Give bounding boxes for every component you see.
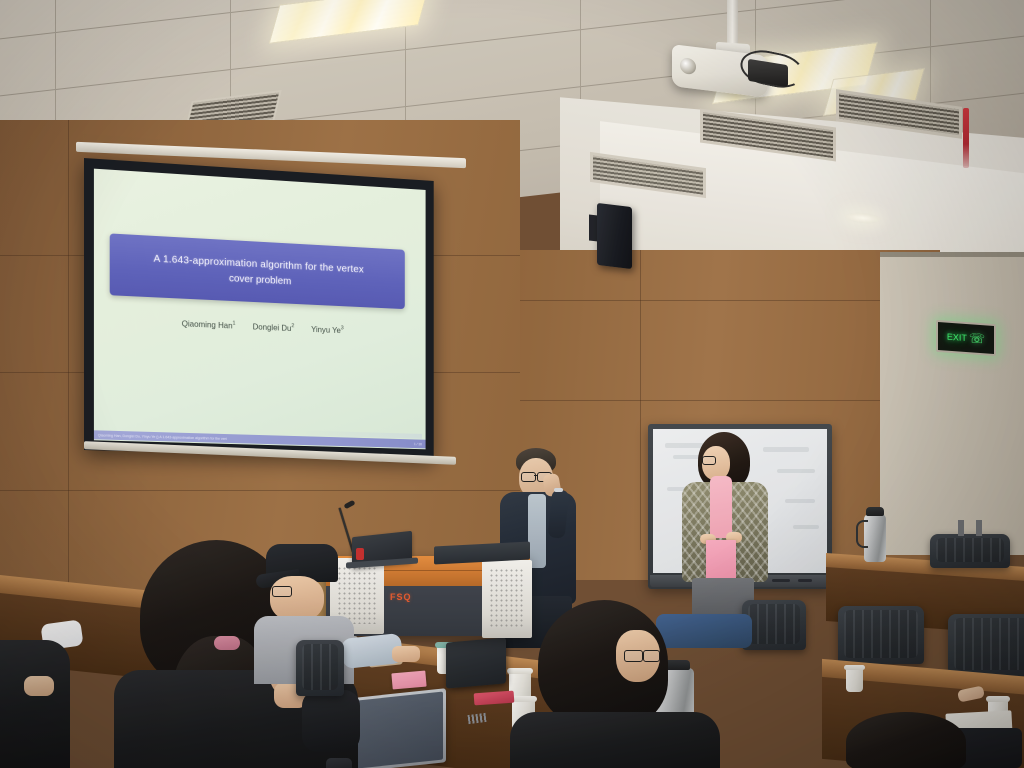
woman-glasses — [702, 456, 716, 465]
woman-pink-scarf — [710, 476, 732, 538]
emergency-exit-sign: EXIT ☏ — [936, 320, 996, 356]
slide-author: Qiaoming Han1 — [182, 318, 236, 330]
slide-footer-page: 1 / 30 — [414, 442, 422, 446]
audience-member-left — [0, 640, 70, 768]
slide-author: Donglei Du2 — [253, 321, 295, 333]
pink-paper-on-desk — [391, 671, 426, 690]
slide-footer-left: Qiaoming Han, Donglei Du, Yinyu Ye () A … — [98, 433, 227, 441]
running-man-icon: ☏ — [969, 330, 985, 347]
man-badge — [534, 560, 539, 565]
exit-sign-label: EXIT — [947, 332, 967, 343]
audience-glasses-right — [643, 650, 660, 662]
carafe-handle — [856, 520, 868, 548]
audience-member-right-front — [520, 600, 710, 768]
audience-coat — [510, 712, 720, 768]
projection-screen[interactable]: A 1.643-approximation algorithm for the … — [84, 158, 434, 459]
audience-glasses — [624, 650, 643, 662]
chair-back — [838, 606, 924, 664]
slide-title-band: A 1.643-approximation algorithm for the … — [110, 233, 405, 309]
projector-mount-pole — [727, 0, 738, 48]
audience-member-bottom-right — [846, 712, 966, 768]
man-glasses-bridge — [534, 475, 537, 476]
wall-seam — [520, 300, 940, 301]
man-wristwatch — [554, 488, 563, 492]
laptop-lid-center[interactable] — [446, 637, 506, 688]
chair-post — [976, 520, 982, 536]
chair-post — [958, 520, 964, 536]
wall-seam — [0, 490, 520, 491]
lecture-hall-photo: EXIT ☏ A 1.643-approximation algorithm f… — [0, 0, 1024, 768]
wall-speaker — [597, 203, 632, 269]
audience-sleeve — [302, 690, 360, 752]
wall-pillar — [880, 255, 1024, 555]
chair-back — [296, 640, 344, 696]
pillar-cap — [880, 252, 1024, 257]
projector-lens — [680, 57, 696, 75]
man-glasses-left-lens — [521, 472, 536, 482]
audience-hand — [392, 646, 420, 662]
chair-back — [930, 534, 1010, 568]
hair-tie — [214, 636, 240, 650]
chair-back — [948, 614, 1024, 676]
slide-title-line-2: cover problem — [229, 273, 291, 287]
presentation-slide: A 1.643-approximation algorithm for the … — [94, 169, 426, 450]
slide-author-list: Qiaoming Han1 Donglei Du2 Yinyu Ye3 — [94, 314, 426, 338]
lectern-brand-logo: FSQ — [390, 592, 412, 602]
wall-seam — [640, 250, 641, 550]
wall-seam — [68, 120, 69, 620]
audience-wrist-cuff — [326, 758, 352, 768]
wall-seam — [520, 400, 940, 401]
red-ribbon-marker — [963, 108, 969, 168]
slide-title-line-1: A 1.643-approximation algorithm for the … — [154, 253, 364, 275]
audience-glasses — [272, 586, 292, 597]
paper-cup — [846, 668, 863, 692]
slide-author: Yinyu Ye3 — [311, 324, 344, 335]
man-shirt — [528, 494, 546, 568]
audience-hand — [24, 676, 54, 696]
screen-surface: A 1.643-approximation algorithm for the … — [94, 169, 426, 450]
